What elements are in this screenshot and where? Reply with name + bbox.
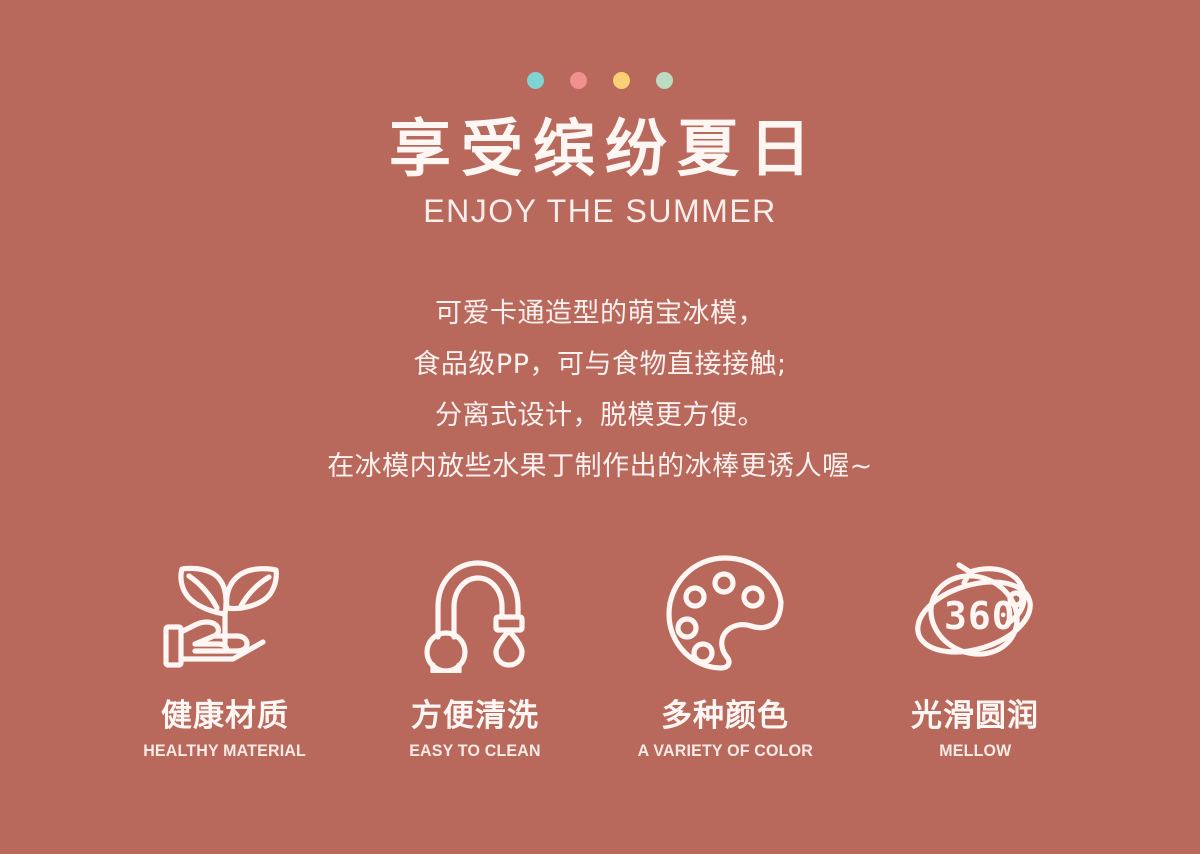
feature-label-en: A VARIETY OF COLOR (637, 741, 812, 761)
rotate-360-icon-text: 360 (944, 594, 1016, 638)
page-title-en: ENJOY THE SUMMER (0, 192, 1200, 230)
feature-label-cn: 多种颜色 (661, 698, 789, 734)
dot-green (656, 72, 673, 89)
dot-pink (570, 72, 587, 89)
feature-label-cn: 方便清洗 (411, 698, 539, 734)
feature-item-mellow: 360 光滑圆润 MELLOW (850, 548, 1100, 761)
hand-sprout-icon (155, 548, 295, 676)
feature-label-cn: 健康材质 (161, 698, 289, 734)
feature-item-easy-to-clean: 方便清洗 EASY TO CLEAN (350, 548, 600, 761)
feature-label-cn: 光滑圆润 (911, 698, 1039, 734)
paint-palette-icon (663, 548, 787, 676)
page-title-cn: 享受缤纷夏日 (0, 112, 1200, 186)
description-line-2: 食品级PP，可与食物直接接触; (0, 339, 1200, 390)
description-line-1: 可爱卡通造型的萌宝冰模， (0, 288, 1200, 339)
feature-label-en: HEALTHY MATERIAL (144, 741, 307, 761)
description-line-4: 在冰模内放些水果丁制作出的冰棒更诱人喔~ (0, 441, 1200, 492)
feature-label-en: MELLOW (939, 741, 1011, 761)
feature-item-healthy-material: 健康材质 HEALTHY MATERIAL (100, 548, 350, 761)
dot-yellow (613, 72, 630, 89)
feature-item-variety-of-color: 多种颜色 A VARIETY OF COLOR (600, 548, 850, 761)
description-line-3: 分离式设计，脱模更方便。 (0, 390, 1200, 441)
feature-row: 健康材质 HEALTHY MATERIAL 方便清洗 (100, 548, 1100, 761)
faucet-drop-icon (410, 548, 540, 676)
rotate-360-icon: 360 (900, 548, 1050, 676)
promo-poster: 享受缤纷夏日 ENJOY THE SUMMER 可爱卡通造型的萌宝冰模， 食品级… (0, 0, 1200, 854)
decorative-dot-row (0, 72, 1200, 89)
headline-block: 享受缤纷夏日 ENJOY THE SUMMER (0, 112, 1200, 230)
description-block: 可爱卡通造型的萌宝冰模， 食品级PP，可与食物直接接触; 分离式设计，脱模更方便… (0, 288, 1200, 492)
feature-label-en: EASY TO CLEAN (409, 741, 540, 761)
dot-teal (527, 72, 544, 89)
